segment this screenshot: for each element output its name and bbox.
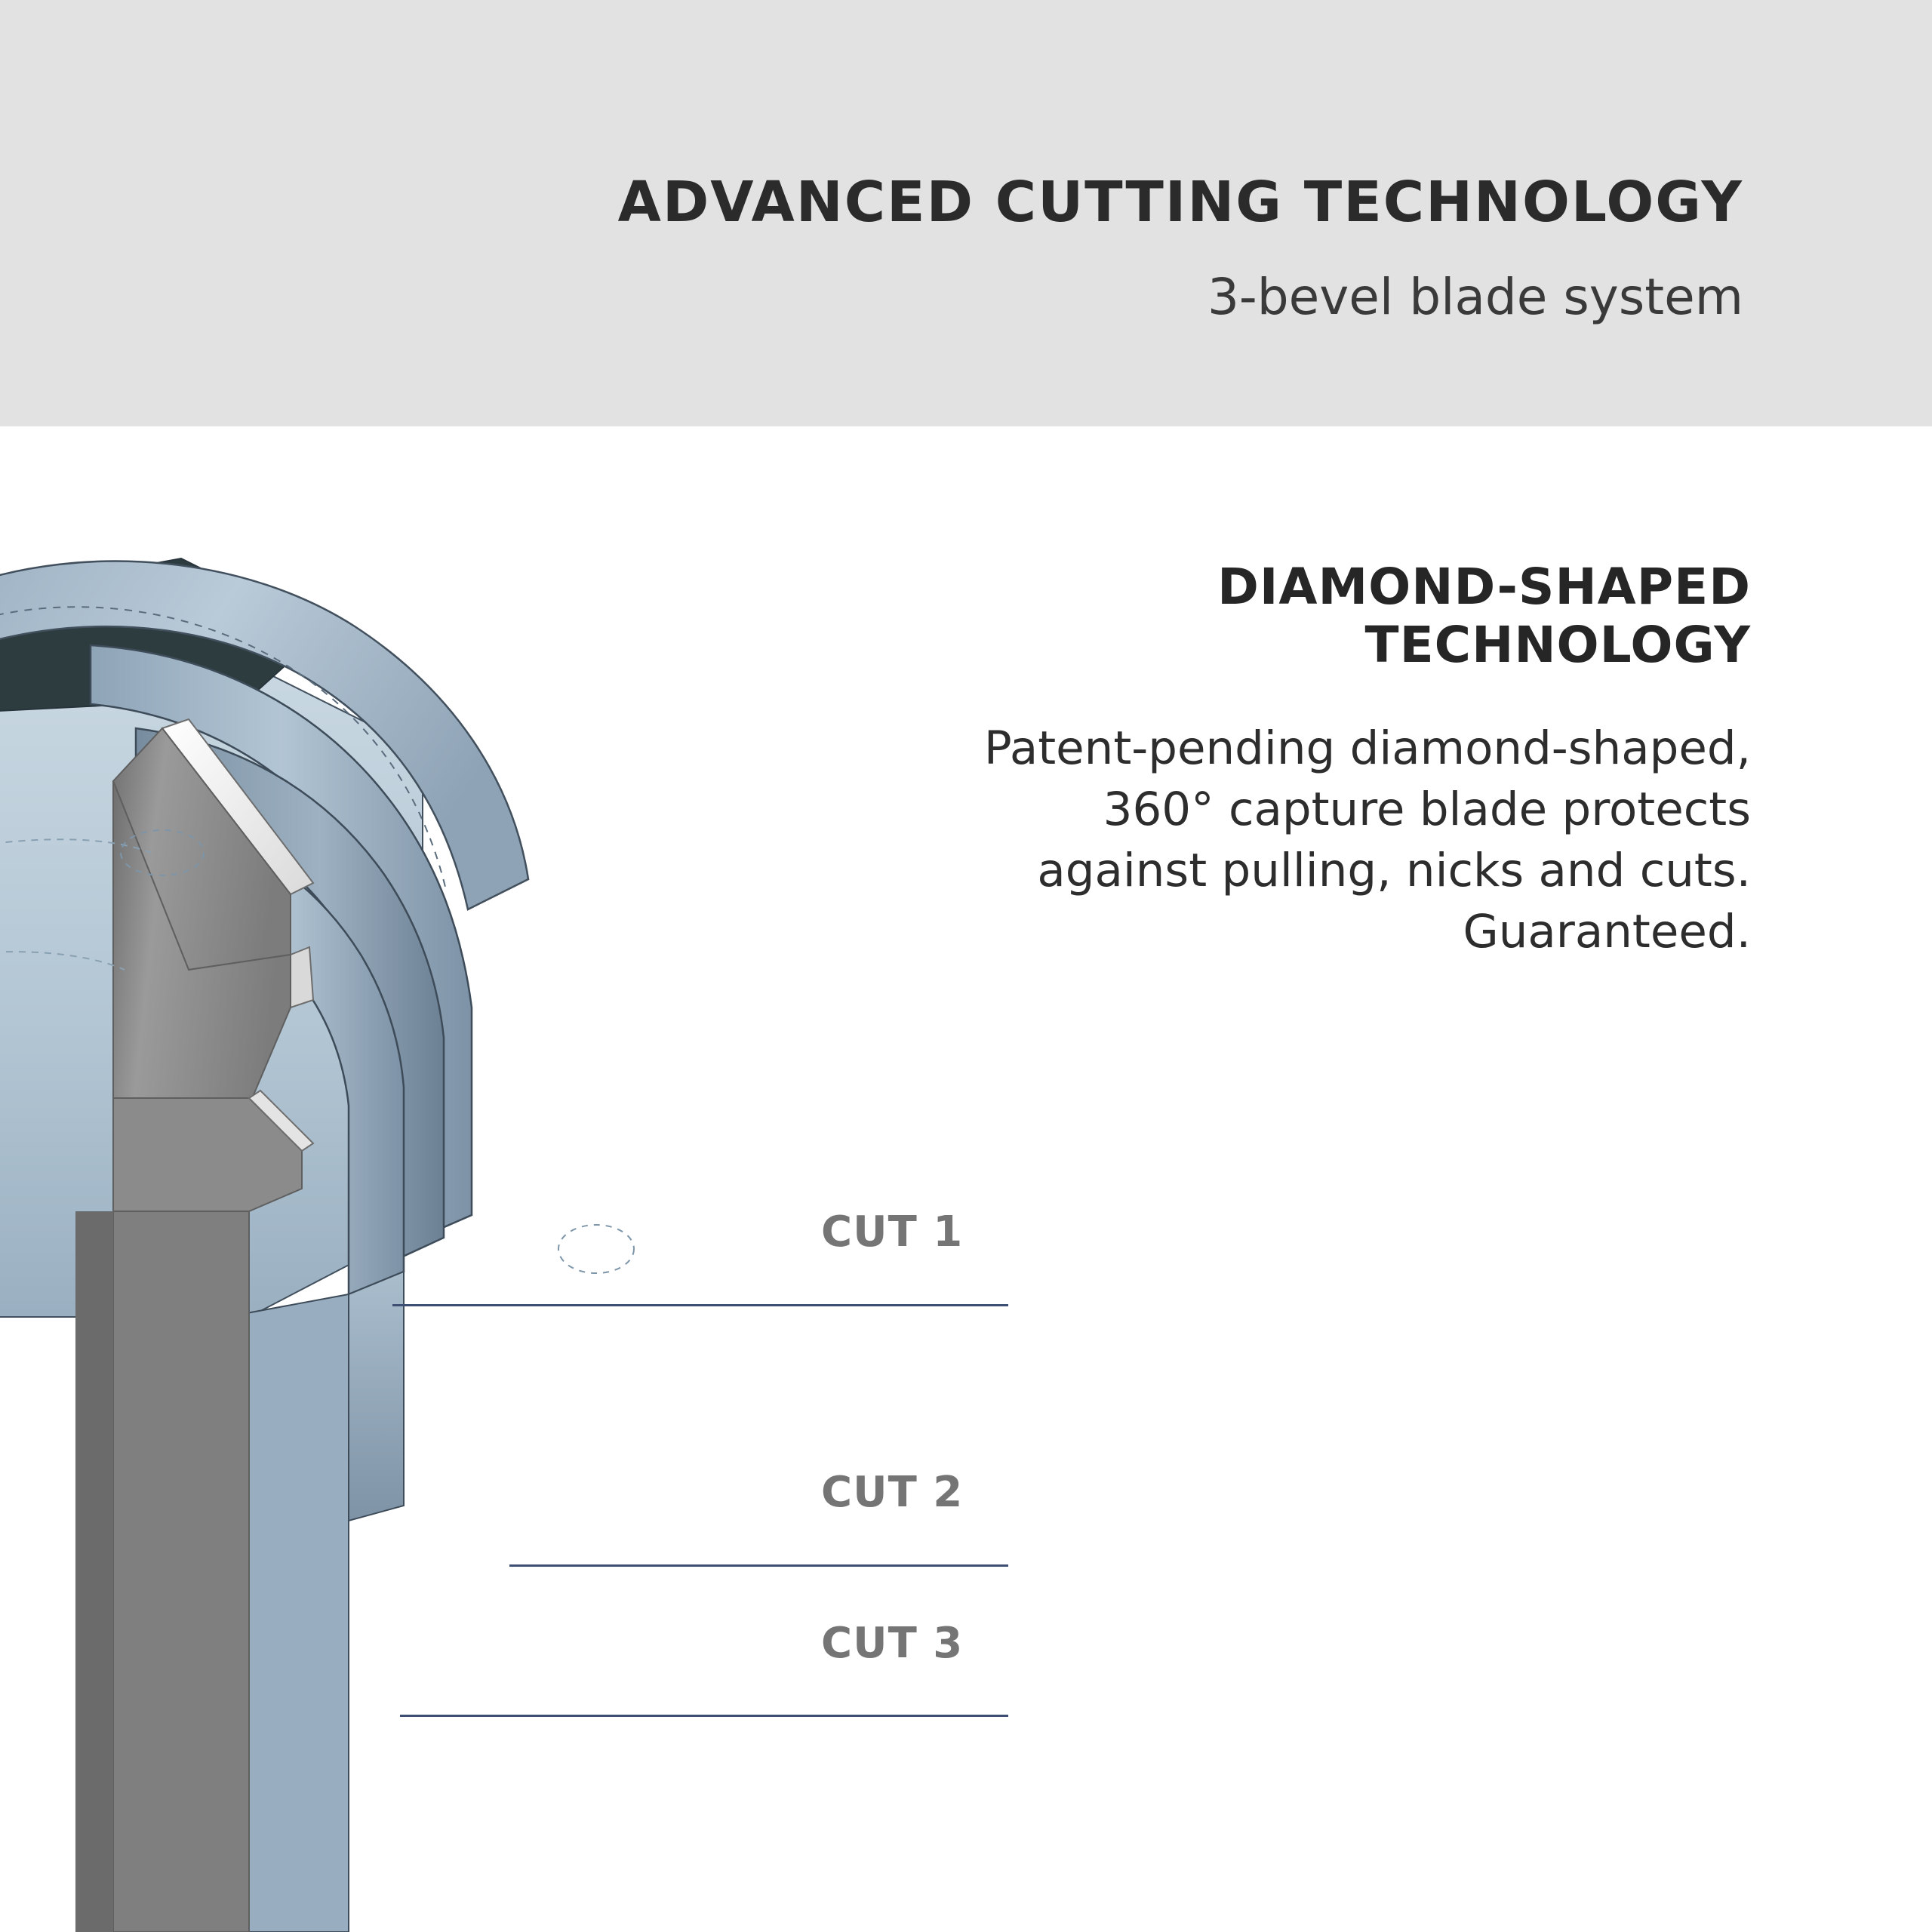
rib-detail-ellipse: [558, 1225, 634, 1273]
feature-heading: DIAMOND-SHAPED TECHNOLOGY: [936, 558, 1751, 674]
blade-cross-section-svg: [0, 426, 1057, 1932]
blade-illustration: [0, 426, 1057, 1932]
callout-label-cut-2: CUT 2: [821, 1468, 963, 1517]
blade-2-edge: [291, 947, 313, 1008]
page-subtitle: 3-bevel blade system: [1207, 268, 1743, 326]
feature-text-column: DIAMOND-SHAPED TECHNOLOGY Patent-pending…: [936, 558, 1751, 963]
feature-body: Patent-pending diamond-shaped, 360° capt…: [936, 718, 1751, 963]
callout-label-cut-1: CUT 1: [821, 1207, 963, 1257]
blade-housing-shadow: [75, 1211, 113, 1932]
blade-housing: [113, 1211, 249, 1932]
callout-leader-3: [400, 1715, 1008, 1717]
cartridge-right-wall: [349, 1272, 404, 1521]
callout-label-cut-3: CUT 3: [821, 1619, 963, 1668]
header-band: ADVANCED CUTTING TECHNOLOGY 3-bevel blad…: [0, 0, 1932, 426]
callout-leader-1: [392, 1304, 1008, 1306]
callout-leader-2: [509, 1564, 1008, 1567]
page-title: ADVANCED CUTTING TECHNOLOGY: [618, 170, 1743, 235]
